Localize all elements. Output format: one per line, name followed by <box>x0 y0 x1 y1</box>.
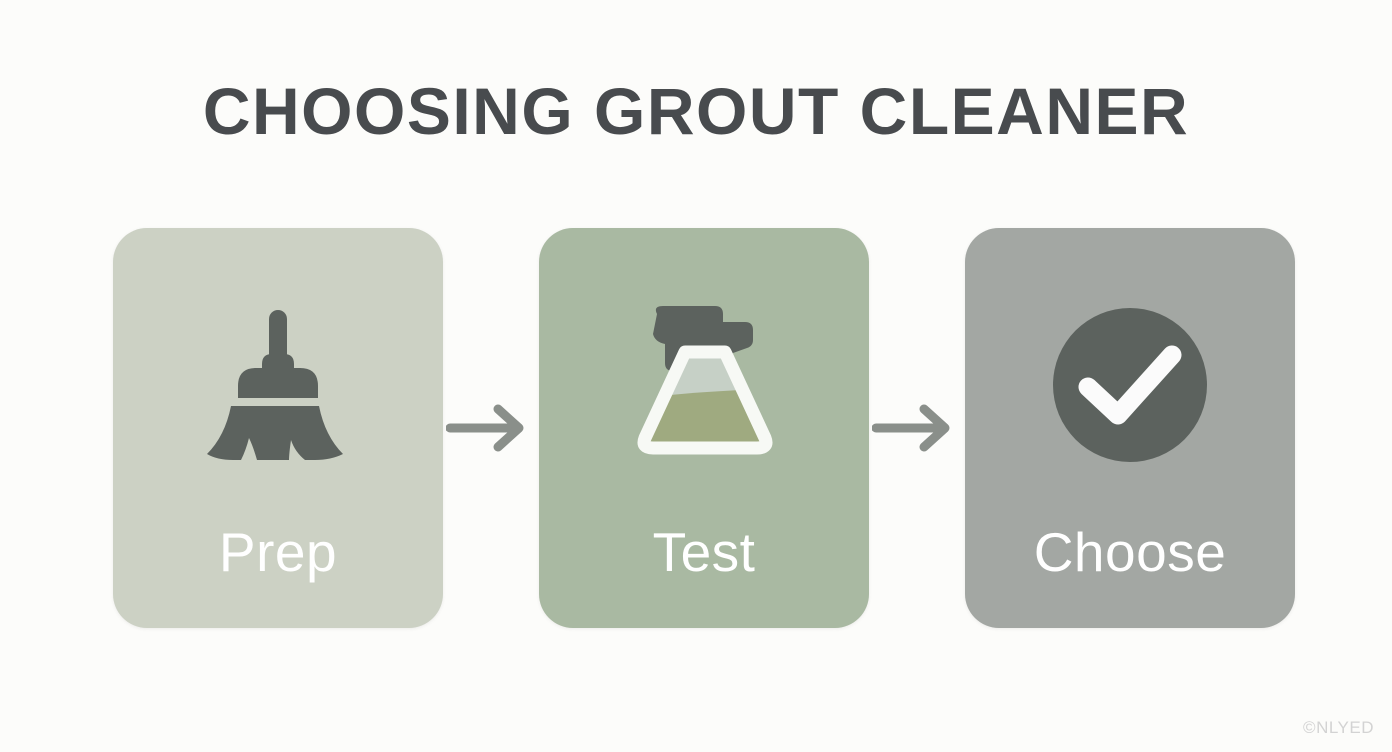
step-label-test: Test <box>539 525 869 580</box>
infographic-canvas: CHOOSING GROUT CLEANER Prep <box>0 0 1392 752</box>
arrow-right-icon <box>869 398 965 458</box>
arrow-right-icon <box>443 398 539 458</box>
spray-bottle-icon <box>539 290 869 480</box>
step-label-choose: Choose <box>965 525 1295 580</box>
broom-icon <box>113 290 443 480</box>
process-flow: Prep <box>113 228 1293 628</box>
page-title: CHOOSING GROUT CLEANER <box>0 78 1392 144</box>
step-card-prep[interactable]: Prep <box>113 228 443 628</box>
step-card-choose[interactable]: Choose <box>965 228 1295 628</box>
check-circle-icon <box>965 290 1295 480</box>
step-card-test[interactable]: Test <box>539 228 869 628</box>
watermark: ©NLYED <box>1303 718 1374 738</box>
step-label-prep: Prep <box>113 525 443 580</box>
